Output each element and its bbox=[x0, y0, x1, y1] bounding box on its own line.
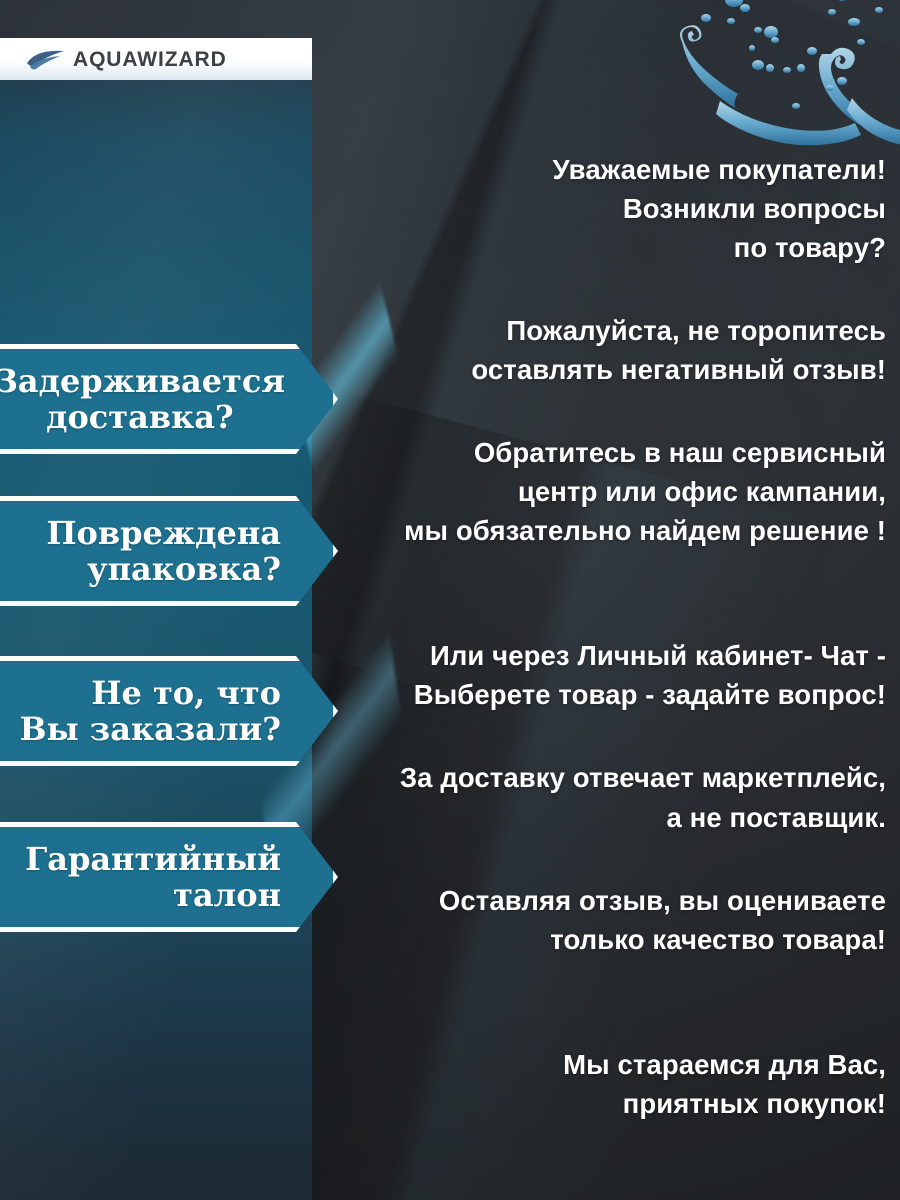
message-personal-account-chat: Или через Личный кабинет- Чат - Выберете… bbox=[330, 636, 886, 714]
message-rate-quality-only: Оставляя отзыв, вы оцениваете только кач… bbox=[330, 881, 886, 959]
banner-wrong-item[interactable]: Не то, что Вы заказали? bbox=[0, 656, 338, 766]
message-closing: Мы стараемся для Вас, приятных покупок! bbox=[330, 1045, 886, 1123]
logo-text: AQUAWIZARD bbox=[73, 49, 227, 70]
message-delivery-responsibility: За доставку отвечает маркетплейс, а не п… bbox=[330, 758, 886, 836]
banner-warranty-card[interactable]: Гарантийный талон bbox=[0, 822, 338, 932]
message-contact-service: Обратитесь в наш сервисный центр или офи… bbox=[330, 433, 886, 550]
wave-icon bbox=[26, 48, 66, 70]
brand-logo: AQUAWIZARD bbox=[0, 38, 312, 80]
message-greeting: Уважаемые покупатели! Возникли вопросы п… bbox=[330, 150, 886, 267]
banner-label: Задерживается доставка? bbox=[0, 351, 333, 447]
water-splash-icon bbox=[646, 0, 900, 166]
message-no-negative-review: Пожалуйста, не торопитесь оставлять нега… bbox=[330, 311, 886, 389]
banner-label: Гарантийный талон bbox=[11, 829, 333, 925]
poster-canvas: AQUAWIZARD Задерживается доставка? Повре… bbox=[0, 0, 900, 1200]
message-column: Уважаемые покупатели! Возникли вопросы п… bbox=[330, 150, 886, 1153]
banner-delayed-delivery[interactable]: Задерживается доставка? bbox=[0, 344, 338, 454]
banner-damaged-packaging[interactable]: Повреждена упаковка? bbox=[0, 496, 338, 606]
banner-label: Не то, что Вы заказали? bbox=[6, 663, 333, 759]
banner-label: Повреждена упаковка? bbox=[32, 503, 333, 599]
